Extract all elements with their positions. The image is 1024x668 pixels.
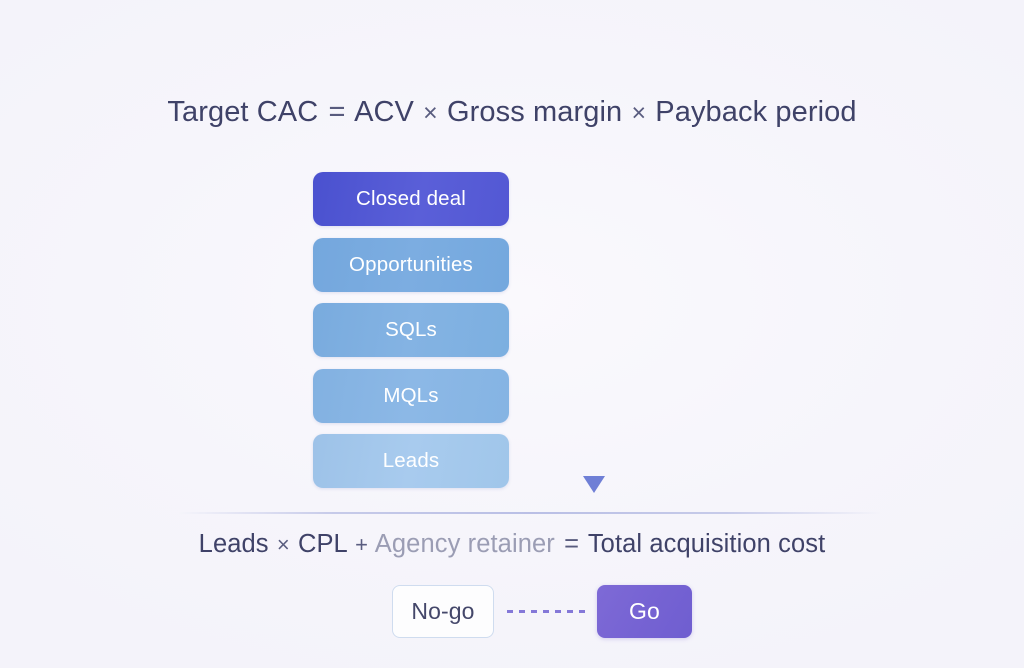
formula-top-term2: Gross margin [447,96,622,128]
funnel-stage-opportunities[interactable]: Opportunities [313,238,509,292]
formula-bottom-result: Total acquisition cost [588,530,826,558]
formula-bottom-term1: Leads [199,530,269,558]
formula-bottom-term3: Agency retainer [375,530,555,558]
go-button[interactable]: Go [597,585,692,638]
formula-total-acquisition-cost: Leads × CPL + Agency retainer = Total ac… [0,530,1024,559]
multiply-icon: × [276,532,291,557]
funnel-stage-leads[interactable]: Leads [313,434,509,488]
funnel-stage-mqls[interactable]: MQLs [313,369,509,423]
multiply-icon: × [630,99,647,127]
decision-dashed-connector [507,610,588,613]
funnel-stage-label: Opportunities [349,253,473,277]
formula-bottom-equals: = [562,530,581,558]
funnel-stage-label: Leads [383,449,440,473]
no-go-button-label: No-go [411,598,474,625]
decision-row: No-go Go [0,585,1024,638]
plus-icon: + [354,532,369,557]
funnel-stage-label: Closed deal [356,187,466,211]
formula-top-lead: Target CAC [167,96,318,128]
no-go-button[interactable]: No-go [392,585,494,638]
go-button-label: Go [629,598,660,625]
diagram-canvas: Target CAC = ACV × Gross margin × Paybac… [0,0,1024,668]
formula-bottom-term2: CPL [298,530,347,558]
formula-top-term1: ACV [354,96,414,128]
formula-top-term3: Payback period [655,96,856,128]
funnel-stage-label: MQLs [383,384,438,408]
section-divider [178,512,882,514]
funnel-stage-label: SQLs [385,318,437,342]
funnel-stack: Closed deal Opportunities SQLs MQLs Lead… [313,172,509,500]
multiply-icon: × [422,99,439,127]
funnel-stage-sqls[interactable]: SQLs [313,303,509,357]
funnel-stage-closed-deal[interactable]: Closed deal [313,172,509,226]
formula-target-cac: Target CAC = ACV × Gross margin × Paybac… [0,96,1024,129]
arrow-down-icon [583,476,605,493]
formula-top-equals: = [326,96,347,128]
